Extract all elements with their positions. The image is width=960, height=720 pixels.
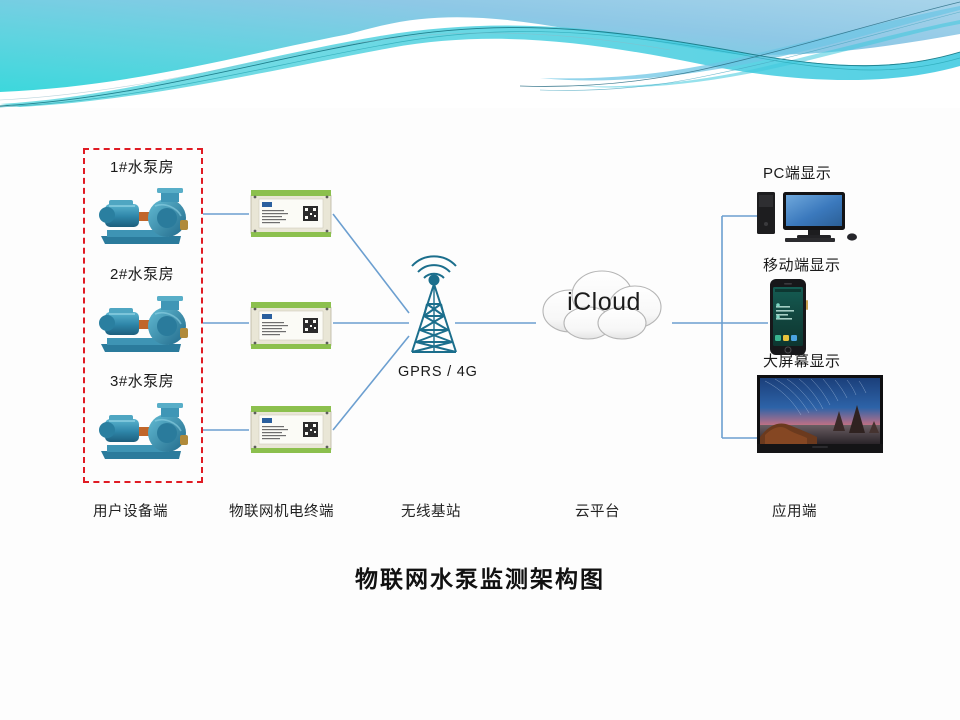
- architecture-diagram: 1#水泵房: [0, 108, 960, 720]
- page-title: 物联网水泵监测架构图: [0, 560, 960, 594]
- app-bigscreen-label: 大屏幕显示: [763, 350, 841, 371]
- cloud-icon: iCloud: [536, 265, 672, 343]
- water-pump-icon: [95, 186, 191, 248]
- base-station-label: GPRS / 4G: [398, 364, 478, 380]
- pump-house-3-label: 3#水泵房: [110, 370, 174, 391]
- app-pc-label: PC端显示: [763, 162, 831, 183]
- water-pump-icon: [95, 294, 191, 356]
- smartphone-icon: [768, 278, 808, 361]
- column-label-iot-terminal: 物联网机电终端: [229, 500, 334, 521]
- column-label-user-equipment: 用户设备端: [93, 500, 168, 521]
- app-mobile-label: 移动端显示: [763, 254, 841, 275]
- iot-gateway-module-icon: [249, 404, 333, 456]
- cell-tower-icon: [396, 248, 472, 365]
- slide-canvas: 1#水泵房: [0, 0, 960, 720]
- pump-house-2-label: 2#水泵房: [110, 263, 174, 284]
- iot-gateway-module-icon: [249, 188, 333, 240]
- decorative-wave-band: [0, 0, 960, 108]
- column-label-application: 应用端: [772, 500, 817, 521]
- pump-house-1-label: 1#水泵房: [110, 156, 174, 177]
- large-display-screen-icon: [757, 375, 883, 458]
- iot-gateway-module-icon: [249, 300, 333, 352]
- cloud-label: iCloud: [536, 265, 672, 343]
- water-pump-icon: [95, 401, 191, 463]
- desktop-computer-icon: [755, 188, 861, 249]
- column-label-cloud-platform: 云平台: [575, 500, 620, 521]
- column-label-base-station: 无线基站: [401, 500, 461, 521]
